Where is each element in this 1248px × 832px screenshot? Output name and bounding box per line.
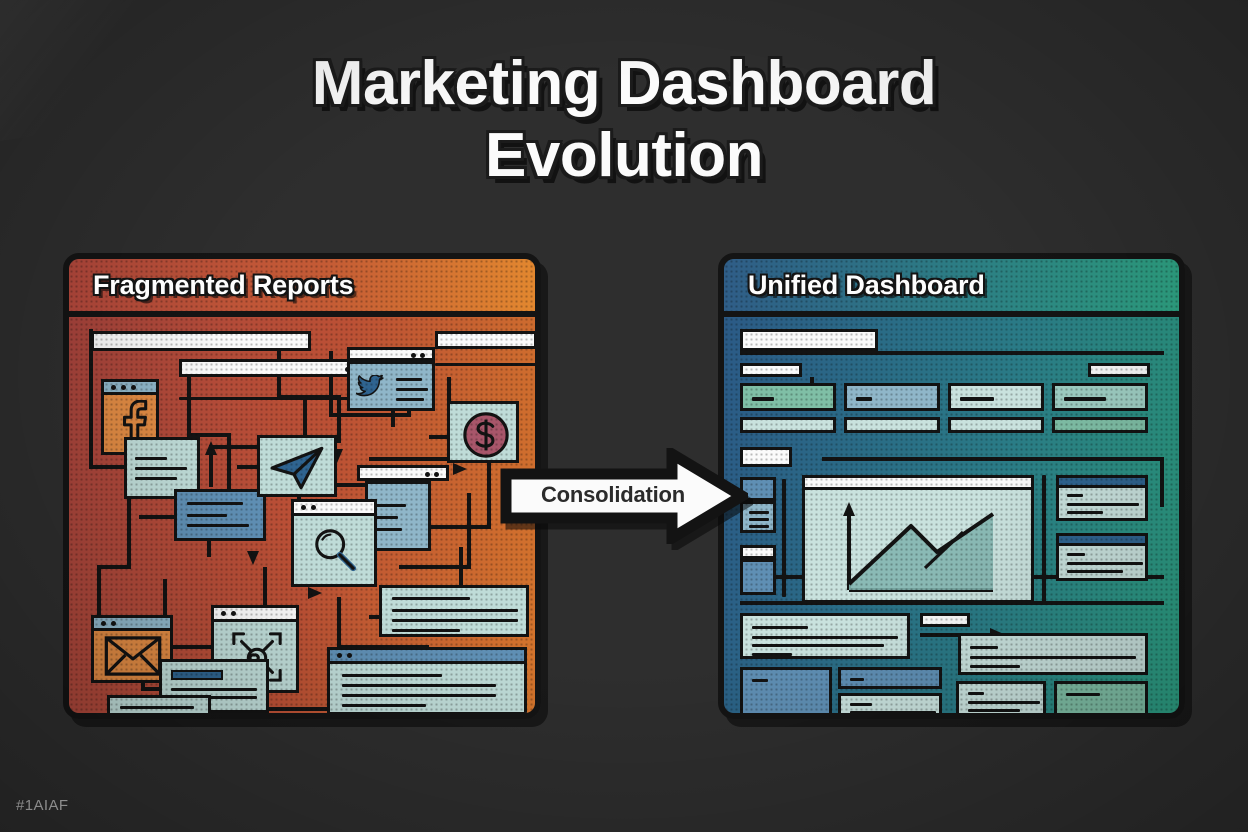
paper-plane-card[interactable] [257, 435, 337, 497]
bottom-panel-right[interactable] [958, 633, 1148, 675]
dashboard-action-label[interactable] [1088, 363, 1150, 377]
report-card-6[interactable] [327, 647, 527, 715]
paper-plane-icon [270, 445, 326, 491]
card-titlebar [294, 502, 374, 516]
bottom-panel-left[interactable] [740, 613, 910, 659]
search-card[interactable] [291, 499, 377, 587]
bottom-tile-5[interactable] [1054, 681, 1148, 719]
kpi-card-4[interactable] [1052, 383, 1148, 411]
report-bar-topright[interactable] [435, 331, 537, 349]
card-titlebar [94, 618, 170, 631]
left-panel-header: Fragmented Reports [69, 259, 535, 317]
title-line-1: Marketing Dashboard [312, 49, 936, 118]
kpi-card-1[interactable] [740, 383, 836, 411]
kpi-card-2[interactable] [844, 383, 940, 411]
consolidation-arrow [500, 448, 748, 544]
report-window-mid[interactable] [357, 465, 449, 481]
bottom-tile-3[interactable] [838, 693, 942, 719]
kpi-card-3[interactable] [948, 383, 1044, 411]
fragmented-reports-panel[interactable]: Fragmented Reports [63, 253, 541, 719]
unified-dashboard-panel[interactable]: Unified Dashboard [718, 253, 1185, 719]
right-widget-2[interactable] [1056, 533, 1148, 581]
card-titlebar [330, 650, 524, 664]
right-panel-header: Unified Dashboard [724, 259, 1179, 317]
magnifier-icon [311, 526, 359, 574]
bottom-tile-2[interactable] [838, 667, 942, 689]
kpi-subbar-4[interactable] [1052, 417, 1148, 433]
twitter-window[interactable] [347, 347, 435, 361]
title-line-2: Evolution [0, 120, 1248, 192]
left-panel-body [69, 317, 535, 713]
report-rule-right [435, 363, 537, 366]
dashboard-sub-label[interactable] [740, 363, 802, 377]
twitter-icon [356, 375, 384, 399]
bottom-tile-1[interactable] [740, 667, 832, 719]
line-chart-icon [805, 492, 1031, 604]
report-card-2[interactable] [174, 489, 266, 541]
kpi-subbar-2[interactable] [844, 417, 940, 433]
report-window-wide[interactable] [179, 359, 369, 377]
watermark: #1AIAF [16, 797, 68, 814]
left-panel-title: Fragmented Reports [69, 270, 353, 301]
kpi-subbar-3[interactable] [948, 417, 1044, 433]
envelope-icon [104, 636, 162, 676]
right-widget-divider [1042, 475, 1046, 603]
report-bar-top[interactable] [91, 331, 311, 351]
report-card-7[interactable] [107, 695, 211, 717]
kpi-subbar-1[interactable] [740, 417, 836, 433]
main-chart-panel[interactable] [802, 475, 1034, 603]
bottom-label[interactable] [920, 613, 970, 627]
dashboard-main-label[interactable] [740, 329, 878, 351]
card-titlebar [214, 608, 296, 622]
poster-canvas: Marketing Dashboard Evolution Fragmented… [0, 0, 1248, 832]
right-widget-1[interactable] [1056, 475, 1148, 521]
page-title: Marketing Dashboard Evolution [0, 48, 1248, 192]
report-rule [179, 397, 369, 400]
card-titlebar [104, 382, 156, 395]
right-panel-title: Unified Dashboard [724, 270, 985, 301]
sidebar-divider [782, 479, 786, 597]
sidebar-widget-field[interactable] [740, 545, 776, 559]
right-panel-body [724, 317, 1179, 713]
report-card-5[interactable] [379, 585, 529, 637]
chart-titlebar [805, 478, 1031, 490]
bottom-tile-4[interactable] [956, 681, 1046, 719]
twitter-card[interactable] [347, 361, 435, 411]
sidebar-widget-bottom[interactable] [740, 559, 776, 595]
